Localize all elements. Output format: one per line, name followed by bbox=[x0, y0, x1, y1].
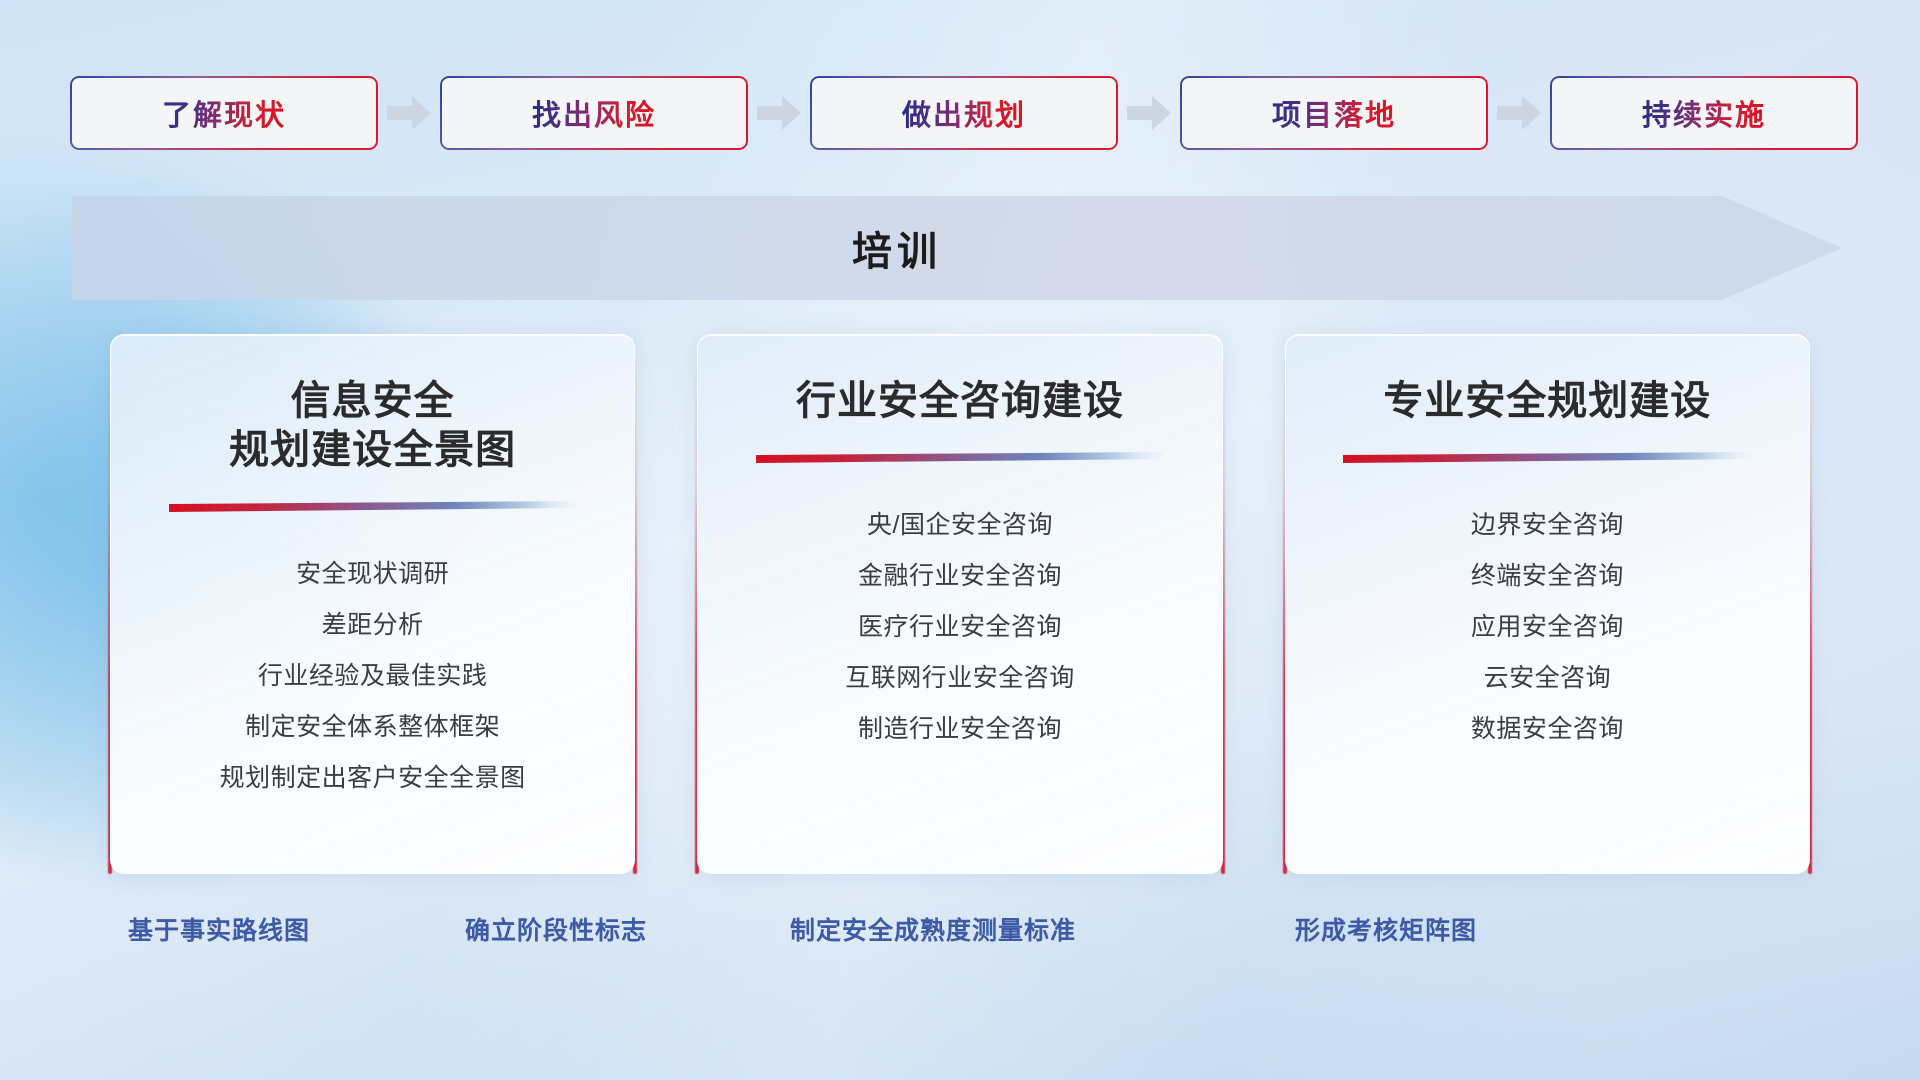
list-item: 差距分析 bbox=[111, 600, 634, 651]
list-item: 制定安全体系整体框架 bbox=[111, 702, 634, 753]
step-label-3: 做出规划 bbox=[902, 92, 1026, 134]
training-banner: 培训 bbox=[72, 196, 1842, 300]
footer-label-2: 确立阶段性标志 bbox=[465, 910, 647, 952]
training-banner-label: 培训 bbox=[72, 196, 1722, 300]
card-list-3: 边界安全咨询 终端安全咨询 应用安全咨询 云安全咨询 数据安全咨询 bbox=[1286, 500, 1809, 755]
solution-card-1[interactable]: 信息安全 规划建设全景图 bbox=[110, 334, 635, 874]
card-wrap-2: 行业安全咨询建设 bbox=[697, 334, 1222, 874]
step-label-1: 了解现状 bbox=[162, 92, 286, 134]
step-arrow-icon-4 bbox=[1488, 76, 1550, 150]
card-divider-1 bbox=[169, 501, 577, 513]
step-box-4[interactable]: 项目落地 bbox=[1180, 76, 1488, 150]
solution-card-2[interactable]: 行业安全咨询建设 bbox=[697, 334, 1222, 874]
step-arrow-icon-3 bbox=[1118, 76, 1180, 150]
step-box-5[interactable]: 持续实施 bbox=[1550, 76, 1858, 150]
solution-card-3[interactable]: 专业安全规划建设 bbox=[1285, 334, 1810, 874]
footer-label-1: 基于事实路线图 bbox=[128, 910, 310, 952]
footer-label-3: 制定安全成熟度测量标准 bbox=[790, 910, 1076, 952]
list-item: 制造行业安全咨询 bbox=[698, 704, 1221, 755]
step-box-2[interactable]: 找出风险 bbox=[440, 76, 748, 150]
list-item: 安全现状调研 bbox=[111, 549, 634, 600]
step-arrow-icon-1 bbox=[378, 76, 440, 150]
card-title-2: 行业安全咨询建设 bbox=[780, 377, 1140, 426]
card-divider-2 bbox=[756, 452, 1164, 464]
list-item: 边界安全咨询 bbox=[1286, 500, 1809, 551]
list-item: 金融行业安全咨询 bbox=[698, 551, 1221, 602]
list-item: 终端安全咨询 bbox=[1286, 551, 1809, 602]
list-item: 应用安全咨询 bbox=[1286, 602, 1809, 653]
card-list-1: 安全现状调研 差距分析 行业经验及最佳实践 制定安全体系整体框架 规划制定出客户… bbox=[111, 549, 634, 804]
list-item: 规划制定出客户安全全景图 bbox=[111, 753, 634, 804]
step-arrow-icon-2 bbox=[748, 76, 810, 150]
step-label-5: 持续实施 bbox=[1642, 92, 1766, 134]
card-title-3: 专业安全规划建设 bbox=[1367, 377, 1727, 426]
step-box-3[interactable]: 做出规划 bbox=[810, 76, 1118, 150]
step-label-4: 项目落地 bbox=[1272, 92, 1396, 134]
list-item: 互联网行业安全咨询 bbox=[698, 653, 1221, 704]
list-item: 央/国企安全咨询 bbox=[698, 500, 1221, 551]
card-divider-3 bbox=[1343, 452, 1751, 464]
footer-label-4: 形成考核矩阵图 bbox=[1295, 910, 1477, 952]
step-label-2: 找出风险 bbox=[532, 92, 656, 134]
list-item: 数据安全咨询 bbox=[1286, 704, 1809, 755]
card-title-1: 信息安全 规划建设全景图 bbox=[213, 377, 532, 475]
list-item: 行业经验及最佳实践 bbox=[111, 651, 634, 702]
card-wrap-3: 专业安全规划建设 bbox=[1285, 334, 1810, 874]
footer-label-row: 基于事实路线图 确立阶段性标志 制定安全成熟度测量标准 形成考核矩阵图 bbox=[0, 910, 1920, 970]
list-item: 云安全咨询 bbox=[1286, 653, 1809, 704]
list-item: 医疗行业安全咨询 bbox=[698, 602, 1221, 653]
card-list-2: 央/国企安全咨询 金融行业安全咨询 医疗行业安全咨询 互联网行业安全咨询 制造行… bbox=[698, 500, 1221, 755]
step-box-1[interactable]: 了解现状 bbox=[70, 76, 378, 150]
process-step-row: 了解现状 找出风险 做出规划 项目落地 持续实施 bbox=[70, 76, 1860, 150]
solution-cards-row: 信息安全 规划建设全景图 bbox=[110, 334, 1810, 874]
card-wrap-1: 信息安全 规划建设全景图 bbox=[110, 334, 635, 874]
